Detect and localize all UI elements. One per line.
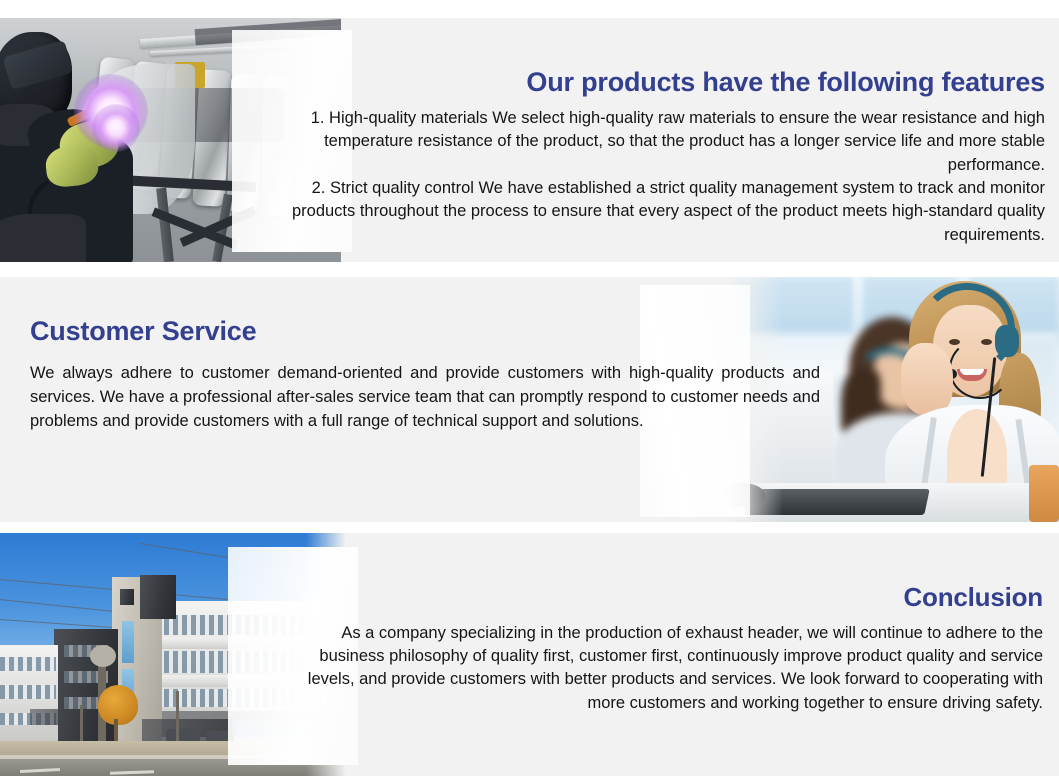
- section-customer-service: Customer Service We always adhere to cus…: [0, 277, 1059, 522]
- autumn-tree: [98, 685, 138, 725]
- service-body: We always adhere to customer demand-orie…: [30, 362, 820, 434]
- conclusion-content: Conclusion As a company specializing in …: [281, 581, 1043, 715]
- service-paragraph: We always adhere to customer demand-orie…: [30, 362, 820, 434]
- feature-item-2: 2. Strict quality control We have establ…: [285, 177, 1045, 247]
- office-chair: [1029, 465, 1059, 522]
- section-features: Our products have the following features…: [0, 18, 1059, 262]
- conclusion-heading: Conclusion: [281, 581, 1043, 614]
- conclusion-body: As a company specializing in the product…: [281, 622, 1043, 716]
- conclusion-paragraph: As a company specializing in the product…: [281, 622, 1043, 716]
- feature-item-1: 1. High-quality materials We select high…: [285, 107, 1045, 177]
- features-heading: Our products have the following features: [285, 66, 1045, 100]
- features-body: 1. High-quality materials We select high…: [285, 107, 1045, 248]
- features-content: Our products have the following features…: [285, 66, 1045, 247]
- section-conclusion: Conclusion As a company specializing in …: [0, 533, 1059, 776]
- service-content: Customer Service We always adhere to cus…: [30, 315, 820, 434]
- product-detail-page: Our products have the following features…: [0, 0, 1059, 776]
- service-heading: Customer Service: [30, 315, 820, 349]
